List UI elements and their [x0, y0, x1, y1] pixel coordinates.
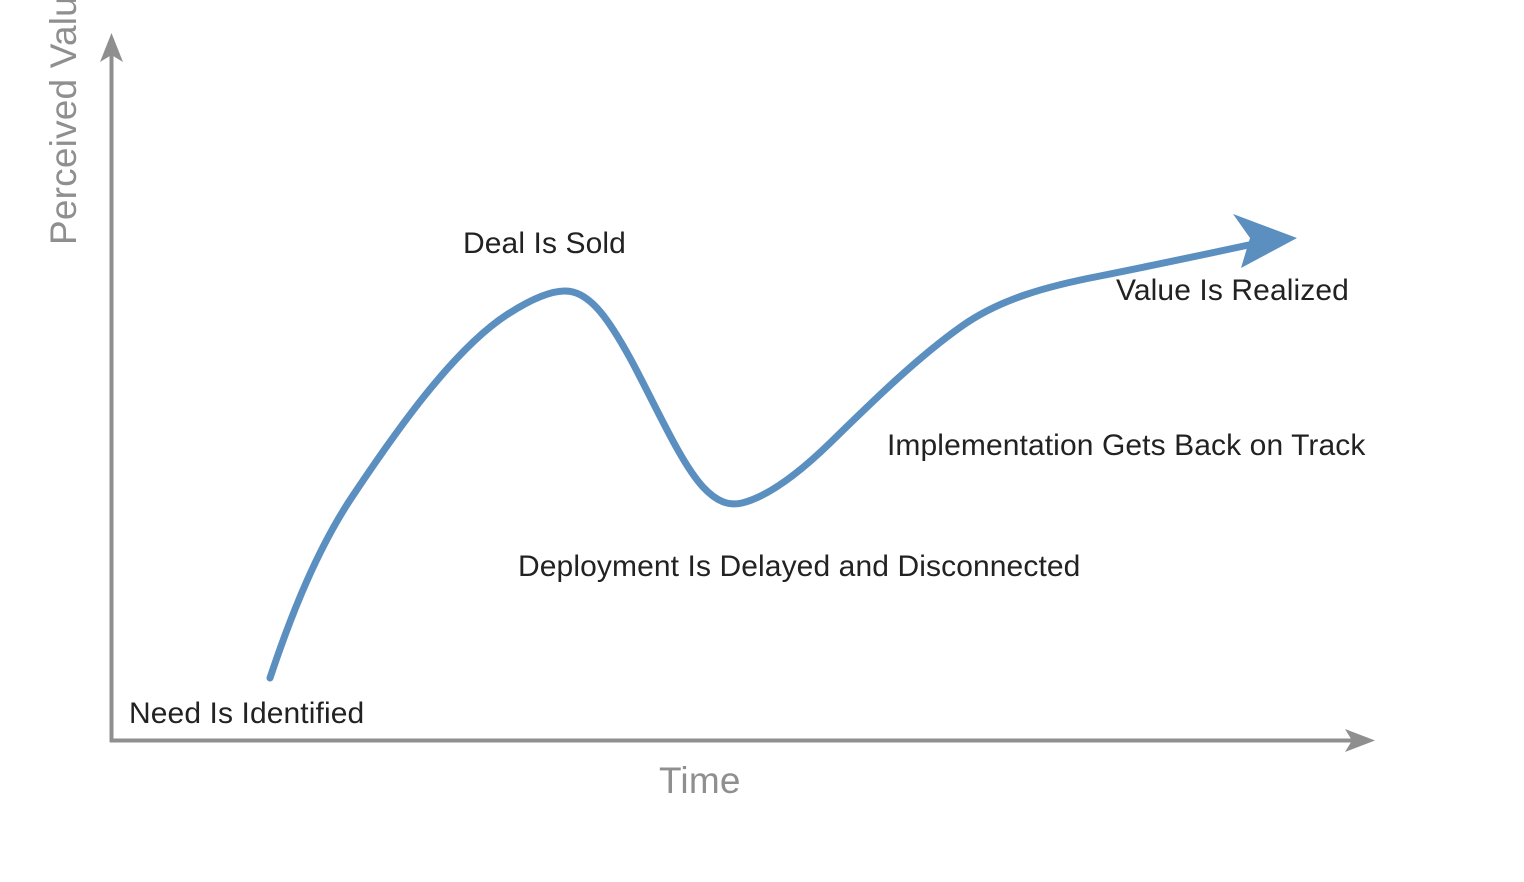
label-deployment-is-delayed-and-disconnected: Deployment Is Delayed and Disconnected [518, 552, 1080, 582]
y-axis [100, 33, 123, 742]
value-curve-arrowhead [1233, 214, 1297, 268]
x-axis [110, 729, 1375, 752]
label-value-is-realized: Value Is Realized [1116, 276, 1349, 306]
y-axis-title: Perceived Value [45, 0, 82, 245]
diagram-canvas: Perceived Value Time Need Is Identified … [0, 0, 1524, 882]
label-need-is-identified: Need Is Identified [129, 699, 364, 729]
label-deal-is-sold: Deal Is Sold [463, 229, 626, 259]
x-axis-title: Time [659, 762, 741, 799]
label-implementation-gets-back-on-track: Implementation Gets Back on Track [887, 431, 1366, 461]
